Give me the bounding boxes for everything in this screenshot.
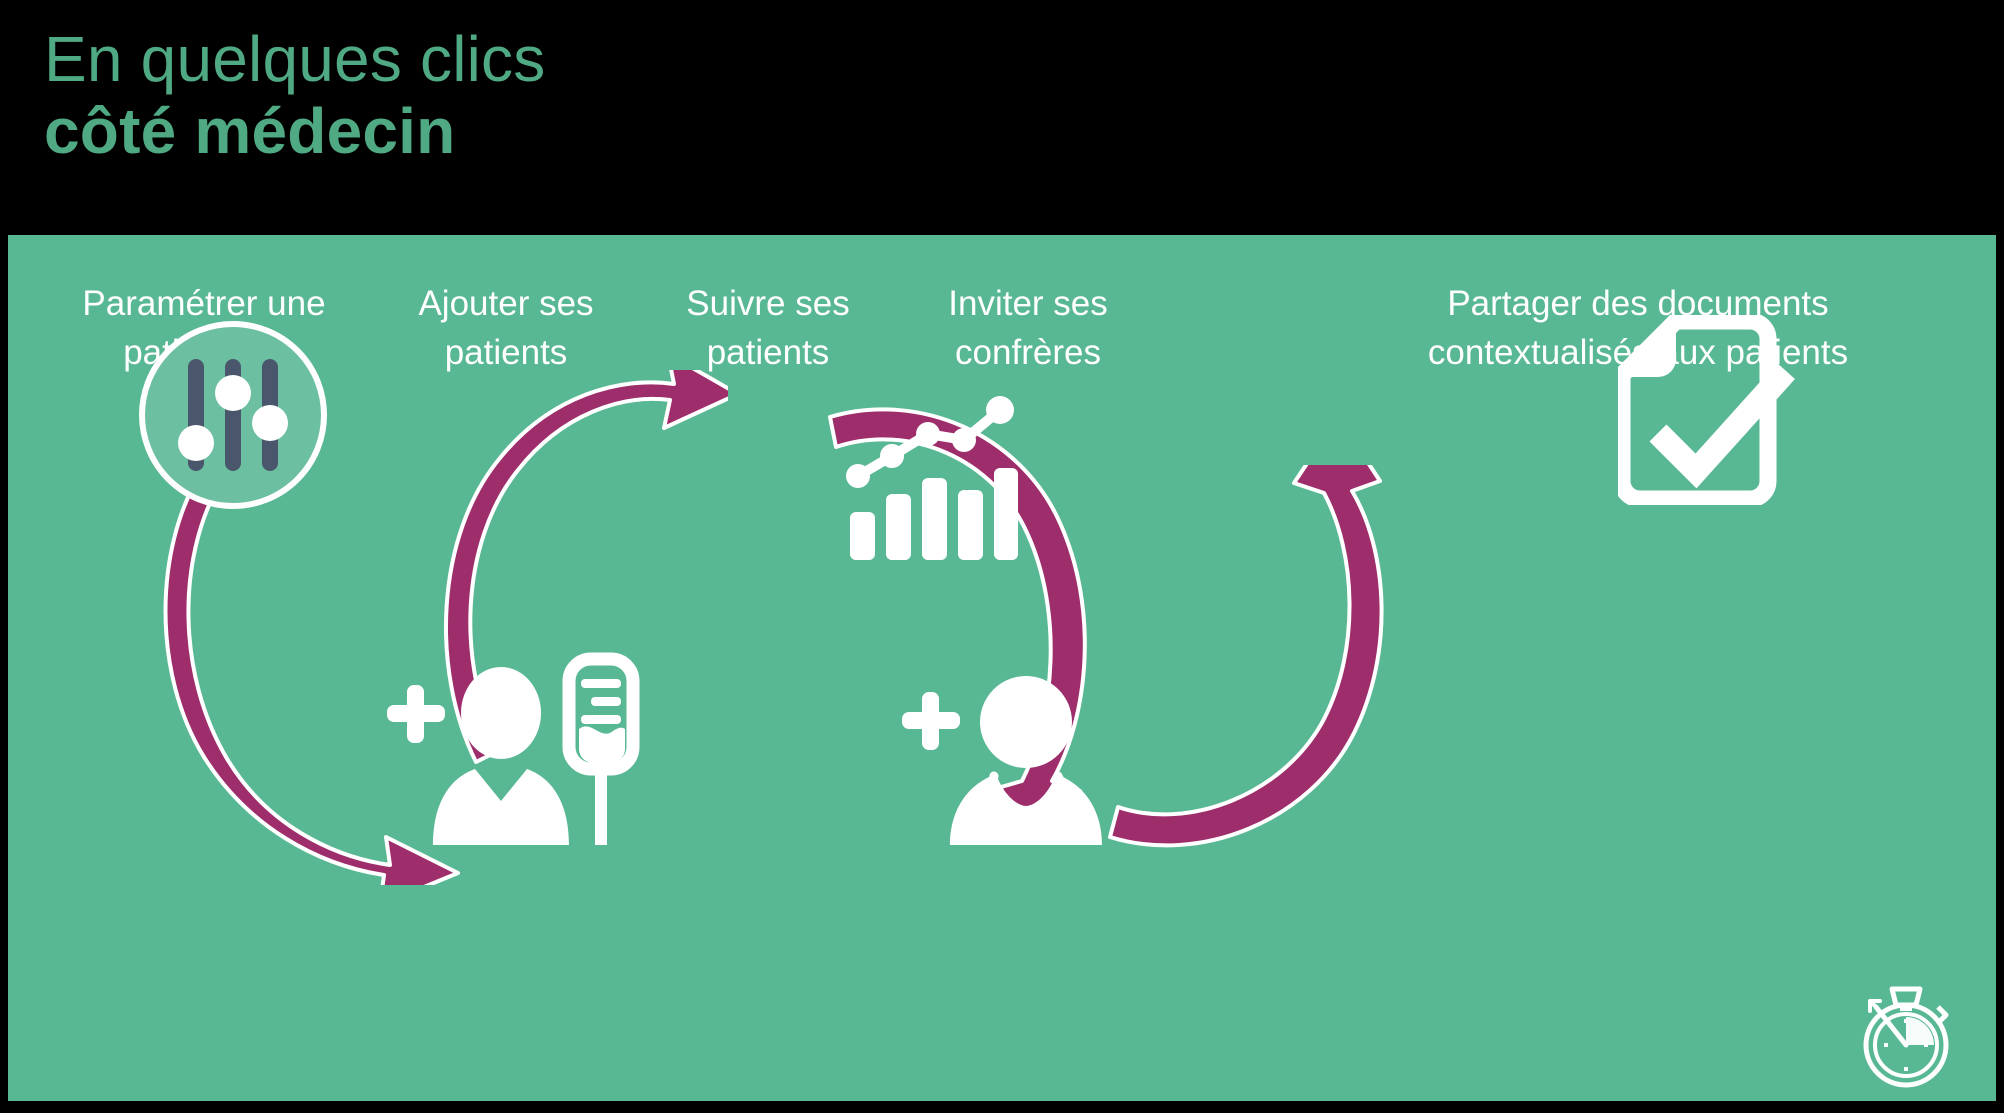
step-label-inviter-confreres: Inviter ses confrères [908,279,1148,377]
sliders-icon [133,315,333,515]
doctor-add-icon [898,650,1168,845]
page-title-line-2: côté médecin [44,94,455,168]
bar-chart-trend-icon [838,390,1018,570]
slide: En quelques clics côté médecin Paramétre… [0,0,2004,1113]
page-title-line-1: En quelques clics [44,22,545,96]
document-check-icon [1618,315,1798,505]
slide-header: En quelques clics côté médecin [0,0,2004,235]
diagram-stage: Paramétrer une pathologie Ajouter ses pa… [8,235,1996,1101]
stopwatch-icon [1846,977,1966,1092]
step-label-ajouter-patients: Ajouter ses patients [386,279,626,377]
patient-add-icon [383,645,653,845]
step-label-suivre-patients: Suivre ses patients [658,279,878,377]
